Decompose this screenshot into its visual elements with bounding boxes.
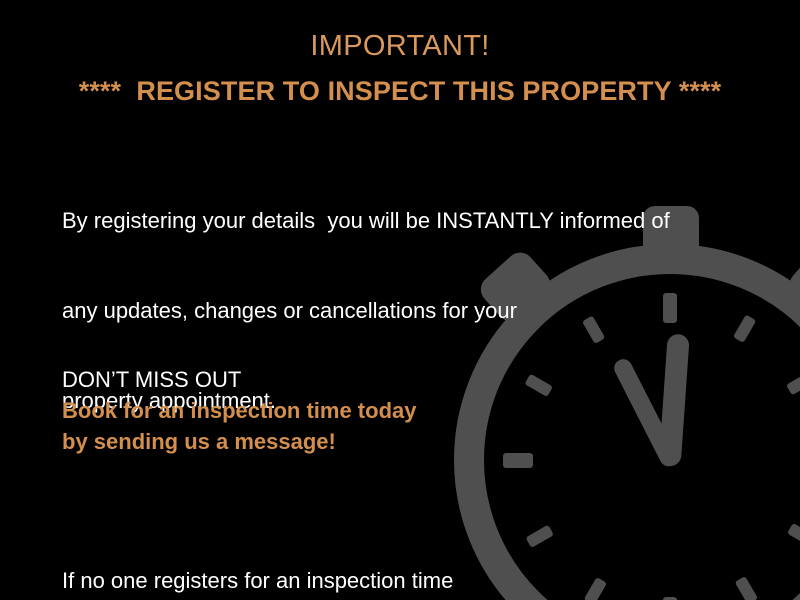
paragraph-no-registration-warning: If no one registers for an inspection ti… xyxy=(62,506,722,600)
paragraph-one-line-2: any updates, changes or cancellations fo… xyxy=(62,296,722,326)
call-to-action-block: DON’T MISS OUT Book for an inspection ti… xyxy=(62,364,562,457)
paragraph-two-line-1: If no one registers for an inspection ti… xyxy=(62,566,722,596)
cta-book-inspection: Book for an inspection time today xyxy=(62,395,562,426)
page-title-important: IMPORTANT! xyxy=(0,30,800,63)
cta-send-message: by sending us a message! xyxy=(62,426,562,457)
slide-canvas: IMPORTANT! **** REGISTER TO INSPECT THIS… xyxy=(0,0,800,600)
slide-text-layer: IMPORTANT! **** REGISTER TO INSPECT THIS… xyxy=(0,0,800,600)
page-title-register: **** REGISTER TO INSPECT THIS PROPERTY *… xyxy=(0,76,800,107)
paragraph-one-line-1: By registering your details you will be … xyxy=(62,206,722,236)
cta-dont-miss-out: DON’T MISS OUT xyxy=(62,364,562,395)
